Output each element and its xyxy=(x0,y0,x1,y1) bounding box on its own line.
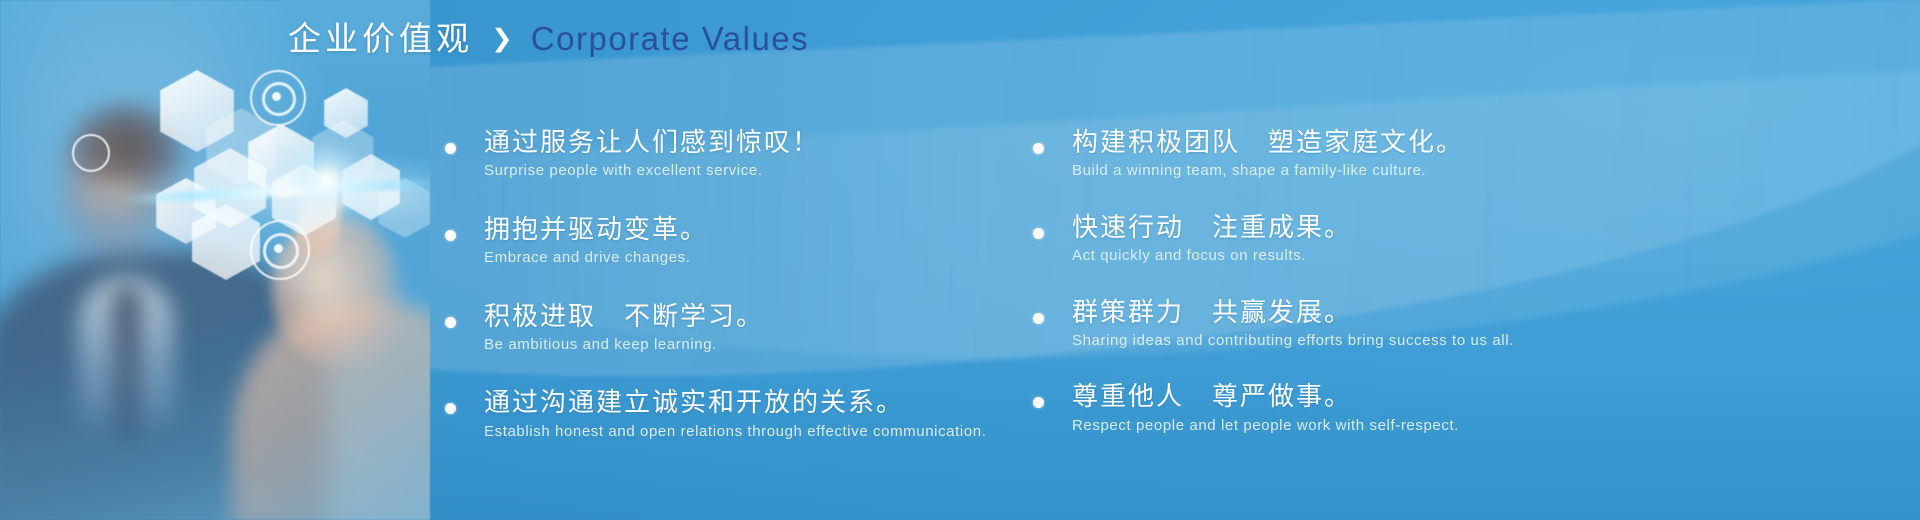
corporate-values-banner: 企业价值观 ❯ Corporate Values 通过服务让人们感到惊叹！ Su… xyxy=(0,0,1920,520)
list-item: 积极进取 不断学习。 Be ambitious and keep learnin… xyxy=(438,300,1038,355)
bullet-dot-icon xyxy=(445,403,456,414)
bullet-dot-icon xyxy=(445,230,456,241)
chevron-right-icon: ❯ xyxy=(491,25,513,50)
value-subtitle-en: Establish honest and open relations thro… xyxy=(484,422,1038,442)
list-item: 构建积极团队 塑造家庭文化。 Build a winning team, sha… xyxy=(1026,126,1866,181)
bullet-dot-icon xyxy=(445,143,456,154)
banner-header: 企业价值观 ❯ Corporate Values xyxy=(288,22,809,55)
bullet-dot-icon xyxy=(1033,228,1044,239)
bullet-dot-icon xyxy=(1033,397,1044,408)
bullet-dot-icon xyxy=(1033,313,1044,324)
list-item: 快速行动 注重成果。 Act quickly and focus on resu… xyxy=(1026,211,1866,266)
value-subtitle-en: Respect people and let people work with … xyxy=(1072,416,1866,436)
values-column-left: 通过服务让人们感到惊叹！ Surprise people with excell… xyxy=(438,126,1038,441)
value-heading-cn: 通过服务让人们感到惊叹！ xyxy=(484,126,1038,159)
value-subtitle-en: Build a winning team, shape a family-lik… xyxy=(1072,161,1866,181)
value-subtitle-en: Sharing ideas and contributing efforts b… xyxy=(1072,331,1866,351)
value-heading-cn: 通过沟通建立诚实和开放的关系。 xyxy=(484,386,1038,419)
value-subtitle-en: Surprise people with excellent service. xyxy=(484,161,1038,181)
value-heading-cn: 积极进取 不断学习。 xyxy=(484,300,1038,333)
bullet-dot-icon xyxy=(1033,143,1044,154)
value-heading-cn: 群策群力 共赢发展。 xyxy=(1072,296,1866,329)
value-subtitle-en: Embrace and drive changes. xyxy=(484,248,1038,268)
bullet-dot-icon xyxy=(445,317,456,328)
page-title-cn: 企业价值观 xyxy=(288,22,473,55)
list-item: 尊重他人 尊严做事。 Respect people and let people… xyxy=(1026,380,1866,435)
ring-center-dot-icon xyxy=(274,244,283,253)
values-column-right: 构建积极团队 塑造家庭文化。 Build a winning team, sha… xyxy=(1026,126,1866,465)
fingertip-glow xyxy=(286,140,366,220)
ring-center-dot-icon xyxy=(272,92,281,101)
value-heading-cn: 构建积极团队 塑造家庭文化。 xyxy=(1072,126,1866,159)
list-item: 拥抱并驱动变革。 Embrace and drive changes. xyxy=(438,213,1038,268)
page-title-en: Corporate Values xyxy=(531,22,809,55)
value-heading-cn: 快速行动 注重成果。 xyxy=(1072,211,1866,244)
list-item: 群策群力 共赢发展。 Sharing ideas and contributin… xyxy=(1026,296,1866,351)
value-subtitle-en: Be ambitious and keep learning. xyxy=(484,335,1038,355)
value-heading-cn: 尊重他人 尊严做事。 xyxy=(1072,380,1866,413)
businessman-photo xyxy=(0,0,430,520)
list-item: 通过沟通建立诚实和开放的关系。 Establish honest and ope… xyxy=(438,386,1038,441)
value-subtitle-en: Act quickly and focus on results. xyxy=(1072,246,1866,266)
concentric-ring-icon xyxy=(72,134,110,172)
value-heading-cn: 拥抱并驱动变革。 xyxy=(484,213,1038,246)
list-item: 通过服务让人们感到惊叹！ Surprise people with excell… xyxy=(438,126,1038,181)
